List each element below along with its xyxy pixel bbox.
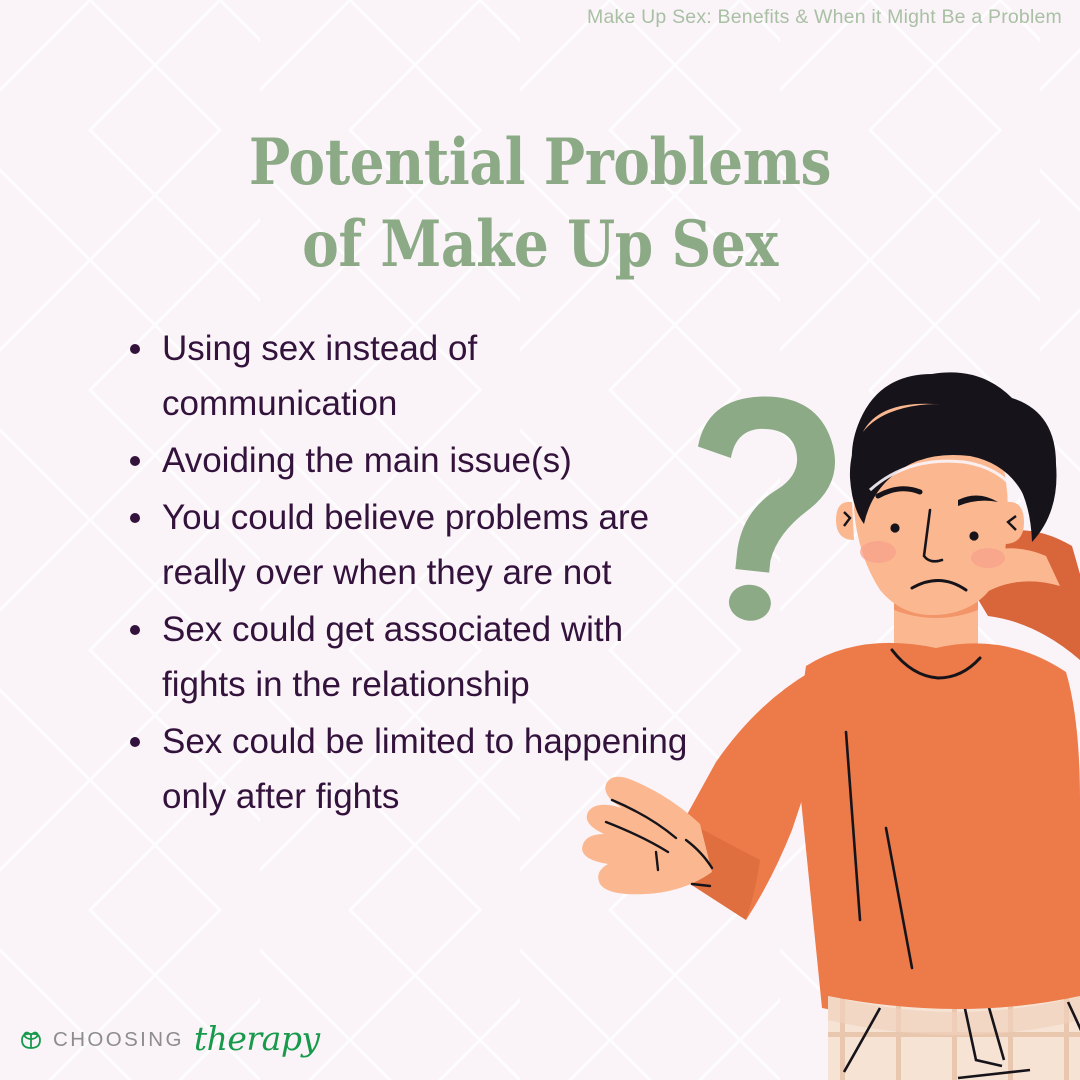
cheek-right <box>971 548 1005 568</box>
logo-word-choosing: CHOOSING <box>53 1028 184 1052</box>
list-item-label: Sex could get associated with fights in … <box>162 610 623 704</box>
eye-right <box>969 531 978 540</box>
bullet-dot-icon <box>130 456 140 466</box>
page-title-line-1: Potential Problems <box>76 122 1005 204</box>
brand-logo[interactable]: CHOOSING therapy <box>18 1020 320 1060</box>
eye-left <box>890 523 899 532</box>
open-hand <box>582 777 712 894</box>
bullet-dot-icon <box>130 737 140 747</box>
leaf-icon <box>18 1027 44 1053</box>
question-mark-icon <box>672 392 862 622</box>
bullet-dot-icon <box>130 513 140 523</box>
logo-word-therapy: therapy <box>194 1019 320 1058</box>
bullet-dot-icon <box>130 625 140 635</box>
page-title-line-2: of Make Up Sex <box>76 204 1005 286</box>
cheek-left <box>860 541 896 563</box>
header-strapline: Make Up Sex: Benefits & When it Might Be… <box>587 6 1062 29</box>
list-item-label: Using sex instead of communication <box>162 329 477 423</box>
page-title: Potential Problems of Make Up Sex <box>76 122 1005 286</box>
sweater-body <box>800 643 1080 1022</box>
infographic-canvas: Make Up Sex: Benefits & When it Might Be… <box>0 0 1080 1080</box>
bullet-dot-icon <box>130 344 140 354</box>
list-item-label: Avoiding the main issue(s) <box>162 441 572 480</box>
